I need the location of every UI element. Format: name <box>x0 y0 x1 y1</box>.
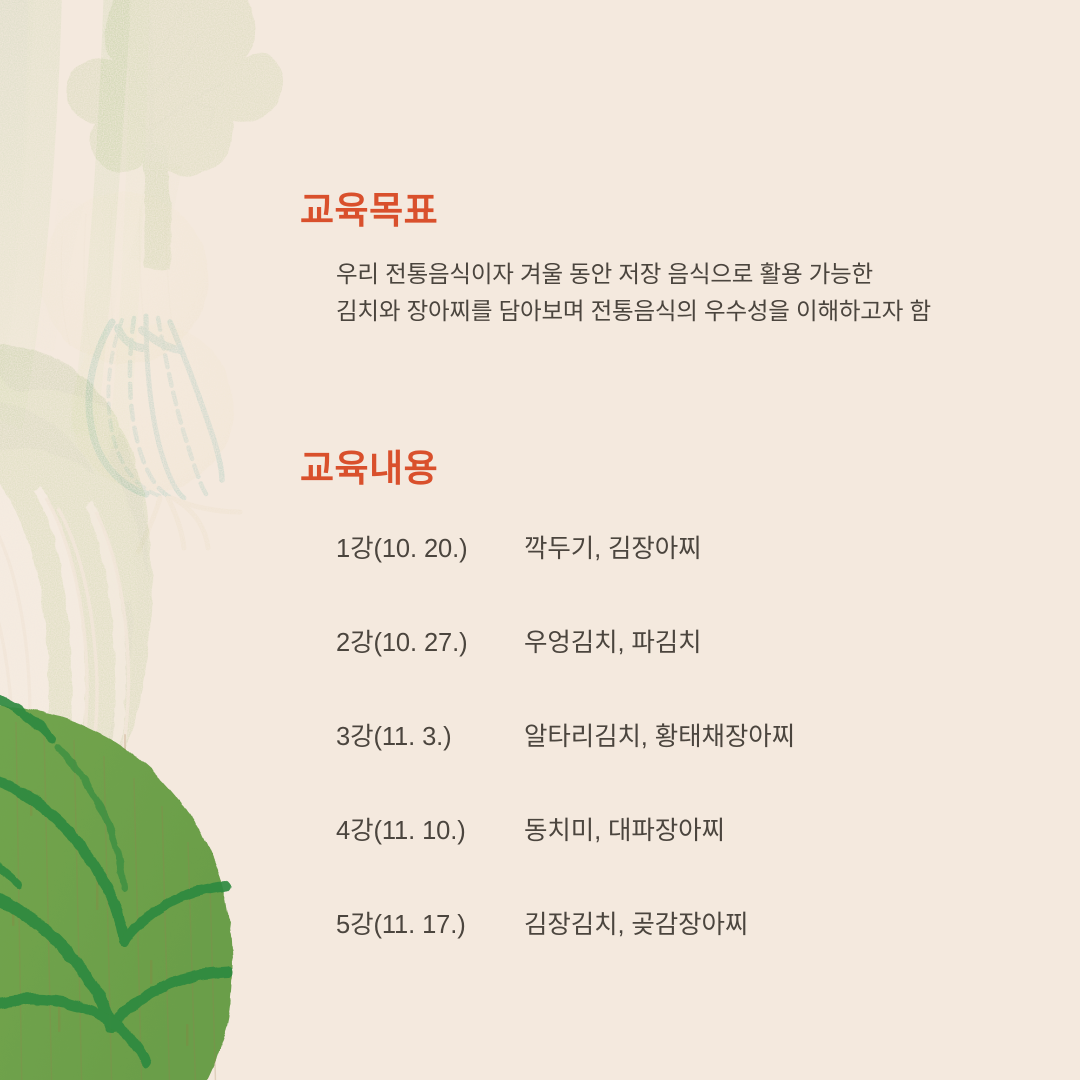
education-goal-heading: 교육목표 <box>300 192 438 229</box>
lesson-label: 4강(11. 10.) <box>336 810 524 847</box>
list-item: 5강(11. 17.) 김장김치, 곶감장아찌 <box>336 904 1036 998</box>
education-content-heading: 교육내용 <box>300 450 438 487</box>
poster-text-content: 교육목표 우리 전통음식이자 겨울 동안 저장 음식으로 활용 가능한 김치와 … <box>296 0 1080 1080</box>
lesson-label: 2강(10. 27.) <box>336 622 524 659</box>
list-item: 1강(10. 20.) 깍두기, 김장아찌 <box>336 528 1036 622</box>
list-item: 3강(11. 3.) 알타리김치, 황태채장아찌 <box>336 716 1036 810</box>
vegetable-illustration <box>0 0 300 1080</box>
goal-body-line-1: 우리 전통음식이자 겨울 동안 저장 음식으로 활용 가능한 <box>336 256 931 293</box>
list-item: 2강(10. 27.) 우엉김치, 파김치 <box>336 622 1036 716</box>
poster-canvas: 교육목표 우리 전통음식이자 겨울 동안 저장 음식으로 활용 가능한 김치와 … <box>0 0 1080 1080</box>
lesson-dishes: 깍두기, 김장아찌 <box>524 528 702 565</box>
education-goal-body: 우리 전통음식이자 겨울 동안 저장 음식으로 활용 가능한 김치와 장아찌를 … <box>336 256 931 330</box>
lesson-dishes: 알타리김치, 황태채장아찌 <box>524 716 795 753</box>
lesson-label: 5강(11. 17.) <box>336 904 524 941</box>
lesson-dishes: 김장김치, 곶감장아찌 <box>524 904 748 941</box>
lesson-label: 1강(10. 20.) <box>336 528 524 565</box>
lesson-dishes: 동치미, 대파장아찌 <box>524 810 725 847</box>
curriculum-list: 1강(10. 20.) 깍두기, 김장아찌 2강(10. 27.) 우엉김치, … <box>336 528 1036 998</box>
goal-body-line-2: 김치와 장아찌를 담아보며 전통음식의 우수성을 이해하고자 함 <box>336 293 931 330</box>
lesson-dishes: 우엉김치, 파김치 <box>524 622 702 659</box>
list-item: 4강(11. 10.) 동치미, 대파장아찌 <box>336 810 1036 904</box>
lesson-label: 3강(11. 3.) <box>336 716 524 753</box>
